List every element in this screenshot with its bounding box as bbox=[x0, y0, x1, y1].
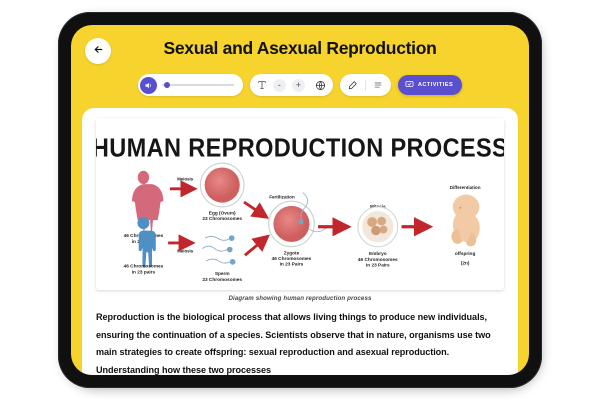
svg-text:Embryo: Embryo bbox=[369, 251, 387, 257]
svg-text:in 23 pairs: in 23 pairs bbox=[132, 269, 156, 275]
fetus-figure bbox=[451, 195, 479, 247]
svg-text:Sperm: Sperm bbox=[215, 271, 230, 277]
svg-text:46 Chromosomes: 46 Chromosomes bbox=[124, 264, 164, 270]
svg-text:HUMAN REPRODUCTION PROCESS: HUMAN REPRODUCTION PROCESS bbox=[96, 135, 504, 163]
svg-text:Meiosis: Meiosis bbox=[177, 176, 194, 181]
reader-toolbar: - + bbox=[71, 72, 529, 98]
increase-text-size-button[interactable]: + bbox=[292, 79, 305, 92]
decrease-text-size-button[interactable]: - bbox=[273, 79, 286, 92]
tablet-frame: Sexual and Asexual Reproduction bbox=[58, 12, 542, 388]
screenshot-stage: Sexual and Asexual Reproduction bbox=[0, 0, 600, 400]
svg-text:46 Chromosomes: 46 Chromosomes bbox=[272, 256, 312, 262]
lesson-paragraph: Reproduction is the biological process t… bbox=[96, 309, 504, 375]
svg-text:(2n): (2n) bbox=[461, 261, 470, 267]
activities-button[interactable]: ACTIVITIES bbox=[398, 75, 462, 95]
svg-text:Differentiation: Differentiation bbox=[450, 185, 481, 190]
toolbar-divider bbox=[365, 80, 366, 91]
reproduction-diagram: HUMAN REPRODUCTION PROCESS 46 Chromosome… bbox=[96, 118, 504, 290]
svg-text:Meiosis: Meiosis bbox=[177, 248, 194, 253]
svg-text:in 23 Pairs: in 23 Pairs bbox=[280, 262, 304, 268]
figure-caption: Diagram showing human reproduction proce… bbox=[96, 295, 504, 302]
slider-knob[interactable] bbox=[164, 82, 170, 88]
pen-icon[interactable] bbox=[348, 80, 358, 90]
slider-track bbox=[162, 84, 234, 86]
volume-icon[interactable] bbox=[140, 77, 157, 94]
typography-icon[interactable] bbox=[257, 80, 267, 90]
volume-slider[interactable] bbox=[162, 80, 234, 90]
svg-text:Egg (Ovum): Egg (Ovum) bbox=[209, 210, 236, 216]
egg-cell bbox=[200, 163, 244, 207]
activities-label: ACTIVITIES bbox=[418, 82, 453, 88]
svg-text:in 23 Pairs: in 23 Pairs bbox=[366, 263, 390, 269]
svg-text:offspring: offspring bbox=[455, 251, 476, 257]
diagram-svg: HUMAN REPRODUCTION PROCESS 46 Chromosome… bbox=[96, 118, 504, 290]
page-title: Sexual and Asexual Reproduction bbox=[71, 38, 529, 59]
annotation-group bbox=[340, 74, 391, 96]
tablet-screen: Sexual and Asexual Reproduction bbox=[71, 25, 529, 375]
svg-text:46 Chromosomes: 46 Chromosomes bbox=[358, 257, 398, 263]
audio-control-group bbox=[138, 74, 243, 96]
monitor-check-icon bbox=[405, 80, 414, 91]
svg-text:Fertilization: Fertilization bbox=[269, 194, 295, 199]
svg-text:23 Chromosomes: 23 Chromosomes bbox=[202, 216, 242, 222]
globe-icon[interactable] bbox=[315, 80, 326, 91]
figure-block: HUMAN REPRODUCTION PROCESS 46 Chromosome… bbox=[96, 118, 504, 302]
app-header: Sexual and Asexual Reproduction bbox=[71, 25, 529, 75]
text-settings-group: - + bbox=[250, 74, 333, 96]
list-icon[interactable] bbox=[373, 80, 383, 90]
svg-text:Zygote: Zygote bbox=[284, 250, 300, 256]
embryo-cell bbox=[358, 207, 398, 247]
lesson-content-card: HUMAN REPRODUCTION PROCESS 46 Chromosome… bbox=[82, 108, 518, 375]
svg-text:23 Chromosomes: 23 Chromosomes bbox=[202, 277, 242, 283]
